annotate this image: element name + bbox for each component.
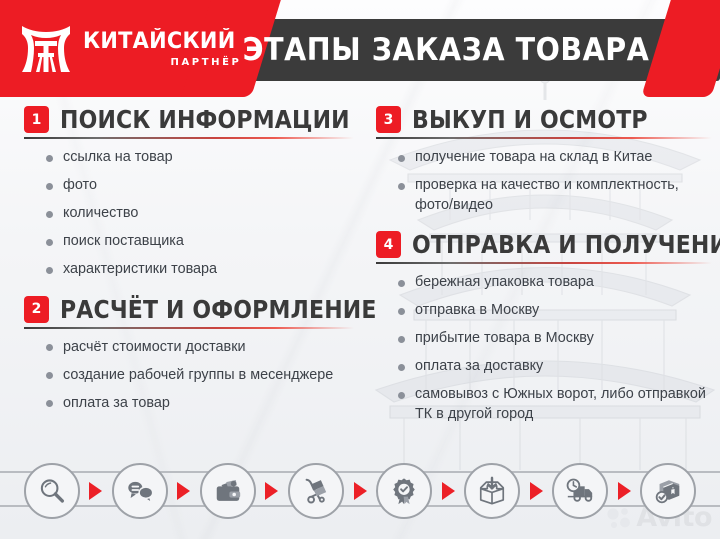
section-1-header: 1 ПОИСК ИНФОРМАЦИИ — [24, 104, 354, 135]
list-item: проверка на качество и комплектность, фо… — [398, 176, 712, 215]
list-item: отправка в Москву — [398, 301, 712, 321]
delivery-truck-icon[interactable] — [552, 463, 608, 519]
list-item: количество — [46, 204, 354, 224]
section-4-title: ОТПРАВКА И ПОЛУЧЕНИЕ — [412, 230, 720, 259]
section-1-list: ссылка на товар фото количество поиск по… — [24, 148, 354, 280]
list-item: фото — [46, 176, 354, 196]
section-4-divider — [376, 262, 712, 264]
section-4-number-badge: 4 — [376, 231, 401, 258]
list-item: поиск поставщика — [46, 232, 354, 252]
section-3-header: 3 ВЫКУП И ОСМОТР — [376, 104, 712, 135]
section-3-number-badge: 3 — [376, 106, 401, 133]
section-1-number-badge: 1 — [24, 106, 49, 133]
page-title: ЭТАПЫ ЗАКАЗА ТОВАРА — [216, 19, 676, 81]
logo-subtitle: ПАРТНЁР — [171, 58, 242, 68]
list-item: самовывоз с Южных ворот, либо отправкой … — [398, 385, 712, 424]
poster: ЭТАПЫ ЗАКАЗА ТОВАРА КИТАЙСКИЙ ПАРТНЁР — [0, 0, 720, 539]
right-column: 3 ВЫКУП И ОСМОТР получение товара на скл… — [376, 104, 712, 433]
left-column: 1 ПОИСК ИНФОРМАЦИИ ссылка на товар фото … — [24, 104, 354, 422]
list-item: оплата за товар — [46, 394, 354, 414]
section-3: 3 ВЫКУП И ОСМОТР получение товара на скл… — [376, 104, 712, 215]
list-item: создание рабочей группы в месенджере — [46, 366, 354, 386]
section-3-title: ВЫКУП И ОСМОТР — [412, 105, 648, 134]
section-3-divider — [376, 137, 712, 139]
section-2-number-badge: 2 — [24, 296, 49, 323]
red-arrow-icon — [530, 482, 543, 500]
chat-bubbles-icon[interactable] — [112, 463, 168, 519]
section-2-list: расчёт стоимости доставки создание рабоч… — [24, 338, 354, 414]
wallet-icon[interactable] — [200, 463, 256, 519]
header: ЭТАПЫ ЗАКАЗА ТОВАРА КИТАЙСКИЙ ПАРТНЁР — [0, 0, 720, 97]
section-2-title: РАСЧЁТ И ОФОРМЛЕНИЕ — [60, 295, 377, 324]
section-3-list: получение товара на склад в Китае провер… — [376, 148, 712, 215]
list-item: расчёт стоимости доставки — [46, 338, 354, 358]
section-1-title: ПОИСК ИНФОРМАЦИИ — [60, 105, 350, 134]
red-arrow-icon — [89, 482, 102, 500]
brand-logo[interactable]: КИТАЙСКИЙ ПАРТНЁР — [18, 22, 244, 76]
section-1-divider — [24, 137, 354, 139]
list-item: прибытие товара в Москву — [398, 329, 712, 349]
process-strip: Avito — [0, 443, 720, 539]
list-item: оплата за доставку — [398, 357, 712, 377]
box-packing-icon[interactable] — [464, 463, 520, 519]
list-item: ссылка на товар — [46, 148, 354, 168]
red-arrow-icon — [442, 482, 455, 500]
section-2-header: 2 РАСЧЁТ И ОФОРМЛЕНИЕ — [24, 294, 354, 325]
section-4-header: 4 ОТПРАВКА И ПОЛУЧЕНИЕ — [376, 229, 712, 260]
section-2: 2 РАСЧЁТ И ОФОРМЛЕНИЕ расчёт стоимости д… — [24, 294, 354, 414]
avito-logo-icon — [606, 505, 632, 531]
list-item: получение товара на склад в Китае — [398, 148, 712, 168]
list-item: бережная упаковка товара — [398, 273, 712, 293]
red-arrow-icon — [618, 482, 631, 500]
quality-badge-icon[interactable] — [376, 463, 432, 519]
section-2-divider — [24, 327, 354, 329]
section-4-list: бережная упаковка товара отправка в Моск… — [376, 273, 712, 424]
logo-title: КИТАЙСКИЙ — [83, 31, 235, 53]
magnifier-icon[interactable] — [24, 463, 80, 519]
red-arrow-icon — [177, 482, 190, 500]
section-1: 1 ПОИСК ИНФОРМАЦИИ ссылка на товар фото … — [24, 104, 354, 280]
red-arrow-icon — [354, 482, 367, 500]
chinese-gate-icon — [18, 22, 74, 76]
list-item: характеристики товара — [46, 260, 354, 280]
hand-truck-icon[interactable] — [288, 463, 344, 519]
red-arrow-icon — [265, 482, 278, 500]
section-4: 4 ОТПРАВКА И ПОЛУЧЕНИЕ бережная упаковка… — [376, 229, 712, 424]
